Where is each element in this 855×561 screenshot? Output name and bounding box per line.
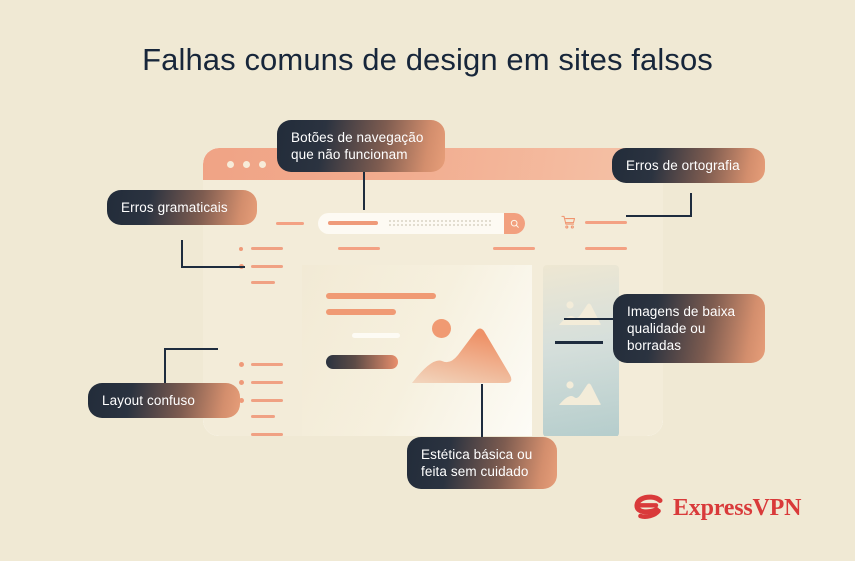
bullet-dot <box>239 380 244 385</box>
list-line <box>251 281 275 284</box>
list-line <box>251 265 283 268</box>
callout-nav-buttons[interactable]: Botões de navegação que não funcionam <box>277 120 445 172</box>
window-control-dots <box>227 161 266 168</box>
list-line <box>251 381 283 384</box>
expressvpn-logo[interactable]: ExpressVPN <box>634 494 801 522</box>
callout-spelling-errors[interactable]: Erros de ortografia <box>612 148 765 183</box>
brand-name: ExpressVPN <box>673 495 801 522</box>
nav-dash <box>276 222 304 225</box>
list-line <box>251 247 283 250</box>
nav-dash <box>585 247 627 250</box>
search-button[interactable] <box>504 213 525 234</box>
mountain-image-icon <box>557 297 603 329</box>
heading-bar <box>326 293 436 299</box>
subheading-bar <box>326 309 396 315</box>
bullet-dot <box>239 247 243 251</box>
list-item <box>213 428 305 436</box>
connector-layout-h <box>164 348 218 350</box>
connector-spelling-h <box>626 215 692 217</box>
nav-dash <box>493 247 535 250</box>
search-icon <box>510 219 520 229</box>
cta-button[interactable] <box>326 355 398 369</box>
callout-grammar-errors[interactable]: Erros gramaticais <box>107 190 257 225</box>
content-card <box>302 265 532 436</box>
bullet-dot <box>239 362 244 367</box>
search-text-fill <box>328 221 378 225</box>
connector-spelling-v <box>690 193 692 217</box>
list-line <box>251 399 283 402</box>
list-line <box>251 433 283 436</box>
window-dot <box>259 161 266 168</box>
image-thumbnail-column <box>543 265 619 436</box>
connector-aesthetics <box>481 384 483 442</box>
list-item <box>213 240 305 258</box>
list-line <box>251 363 283 366</box>
browser-viewport <box>203 180 663 436</box>
text-bar <box>352 333 400 338</box>
expressvpn-swoosh-logo <box>634 494 664 522</box>
connector-grammar-h <box>181 266 245 268</box>
mountain-image-icon <box>410 313 520 393</box>
site-nav-row <box>203 180 663 226</box>
window-dot <box>227 161 234 168</box>
window-dot <box>243 161 250 168</box>
search-placeholder-dots <box>388 219 493 228</box>
list-item <box>213 356 305 374</box>
callout-confusing-layout[interactable]: Layout confuso <box>88 383 240 418</box>
connector-images <box>564 318 620 320</box>
shopping-cart-icon[interactable] <box>561 215 576 235</box>
browser-window-mockup <box>203 148 663 436</box>
list-item <box>213 276 305 294</box>
divider-line <box>555 341 603 344</box>
connector-grammar-v <box>181 240 183 268</box>
callout-low-quality-images[interactable]: Imagens de baixa qualidade ou borradas <box>613 294 765 363</box>
list-line <box>251 415 275 418</box>
nav-dash <box>338 247 380 250</box>
page-title: Falhas comuns de design em sites falsos <box>0 42 855 78</box>
connector-layout-v <box>164 348 166 384</box>
mountain-image-icon <box>557 377 603 409</box>
sun-icon <box>432 319 451 338</box>
callout-basic-aesthetics[interactable]: Estética básica ou feita sem cuidado <box>407 437 557 489</box>
nav-dash <box>585 221 627 224</box>
search-input[interactable] <box>318 213 525 234</box>
